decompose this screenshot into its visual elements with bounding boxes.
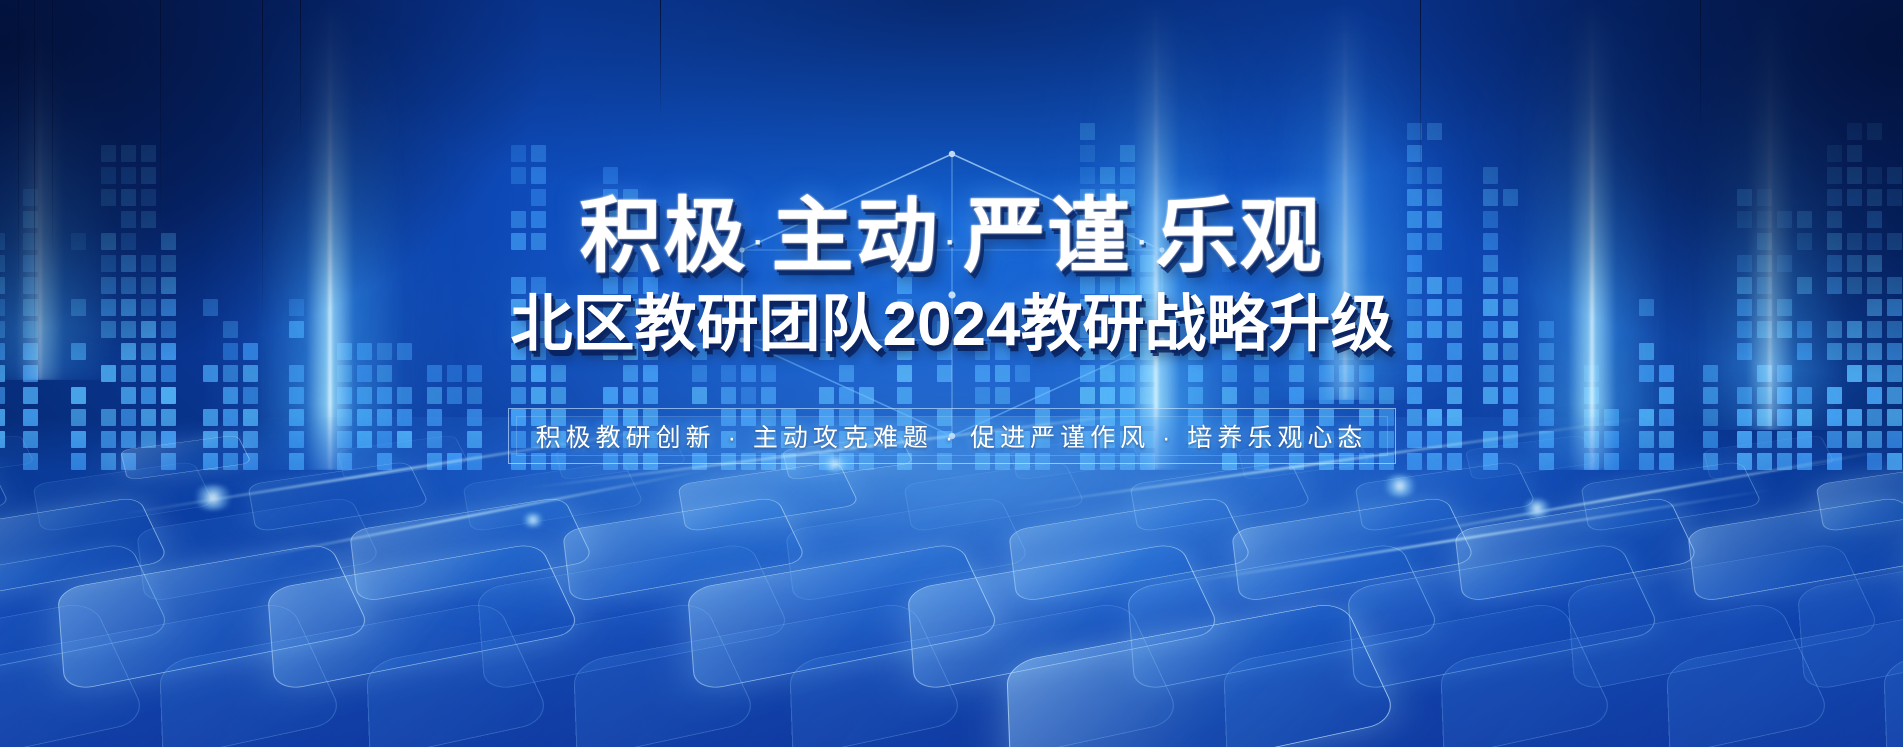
tagline-container: 积极教研创新 · 主动攻克难题 · 促进严谨作风 · 培养乐观心态: [508, 408, 1396, 464]
floor-tile: [790, 601, 1184, 747]
floor-tile: [1687, 496, 1903, 603]
floor-tile: [349, 496, 594, 603]
floor-tile: [1008, 496, 1253, 603]
floor-light-streak: [1184, 488, 1777, 584]
floor-tile: [687, 542, 1002, 692]
headline-word-2: 主动: [771, 191, 939, 282]
floor-tile: [57, 542, 372, 692]
floor-tile: [1816, 461, 1903, 532]
hero-banner: 积极·主动·严谨·乐观 北区教研团队2024教研战略升级 积极教研创新 · 主动…: [0, 0, 1903, 747]
floor-tile: [0, 542, 172, 692]
floor-glow-orb: [190, 485, 236, 510]
floor-tile: [0, 601, 149, 747]
floor-tile: [1354, 461, 1537, 532]
floor-tile: [1666, 601, 1903, 747]
floor-tile: [366, 601, 760, 747]
floor-glow-orb: [1520, 499, 1554, 518]
floor-tile: [785, 496, 1030, 603]
floor-tile: [562, 496, 807, 603]
floor-tile: [1440, 601, 1834, 747]
headline-separator-dot: ·: [753, 228, 765, 258]
floor-tile: [159, 601, 553, 747]
floor-tile: [463, 461, 646, 532]
floor-tile: [0, 601, 346, 747]
banner-headline: 积极·主动·严谨·乐观: [0, 196, 1903, 278]
floor-glow-orb: [1380, 475, 1420, 497]
floor-tile: [0, 496, 169, 603]
floor-tile: [32, 461, 215, 532]
floor-glow-orb: [520, 513, 546, 527]
floor-tile: [1129, 461, 1312, 532]
floor-tile: [1223, 601, 1617, 747]
floor-tile: [907, 542, 1222, 692]
perspective-floor-decoration: [0, 417, 1903, 747]
floor-tile: [137, 496, 382, 603]
floor-tile: [903, 461, 1086, 532]
floor-tile: [1231, 496, 1476, 603]
headline-separator-dot: ·: [1138, 228, 1150, 258]
floor-tile: [1580, 461, 1763, 532]
floor-tile: [573, 601, 967, 747]
floor-tile: [247, 461, 430, 532]
floor-tile: [1127, 542, 1442, 692]
headline-word-3: 严谨: [964, 191, 1132, 282]
floor-tile: [267, 542, 582, 692]
floor-light-streak: [244, 467, 716, 561]
floor-tile: [1454, 496, 1699, 603]
floor-tile: [1006, 601, 1400, 747]
floor-tile: [1567, 542, 1882, 692]
floor-tile: [678, 461, 861, 532]
headline-separator-dot: ·: [946, 228, 958, 258]
floor-tile: [1797, 542, 1903, 692]
banner-subheadline: 北区教研团队2024教研战略升级: [0, 294, 1903, 356]
floor-tile: [1347, 542, 1662, 692]
floor-tile: [1883, 601, 1903, 747]
floor-tile: [0, 461, 9, 532]
banner-tagline: 积极教研创新 · 主动攻克难题 · 促进严谨作风 · 培养乐观心态: [508, 408, 1396, 464]
floor-tile: [477, 542, 792, 692]
banner-content: 积极·主动·严谨·乐观 北区教研团队2024教研战略升级 积极教研创新 · 主动…: [0, 0, 1903, 464]
headline-word-4: 乐观: [1156, 191, 1324, 282]
headline-word-1: 积极: [579, 191, 747, 282]
